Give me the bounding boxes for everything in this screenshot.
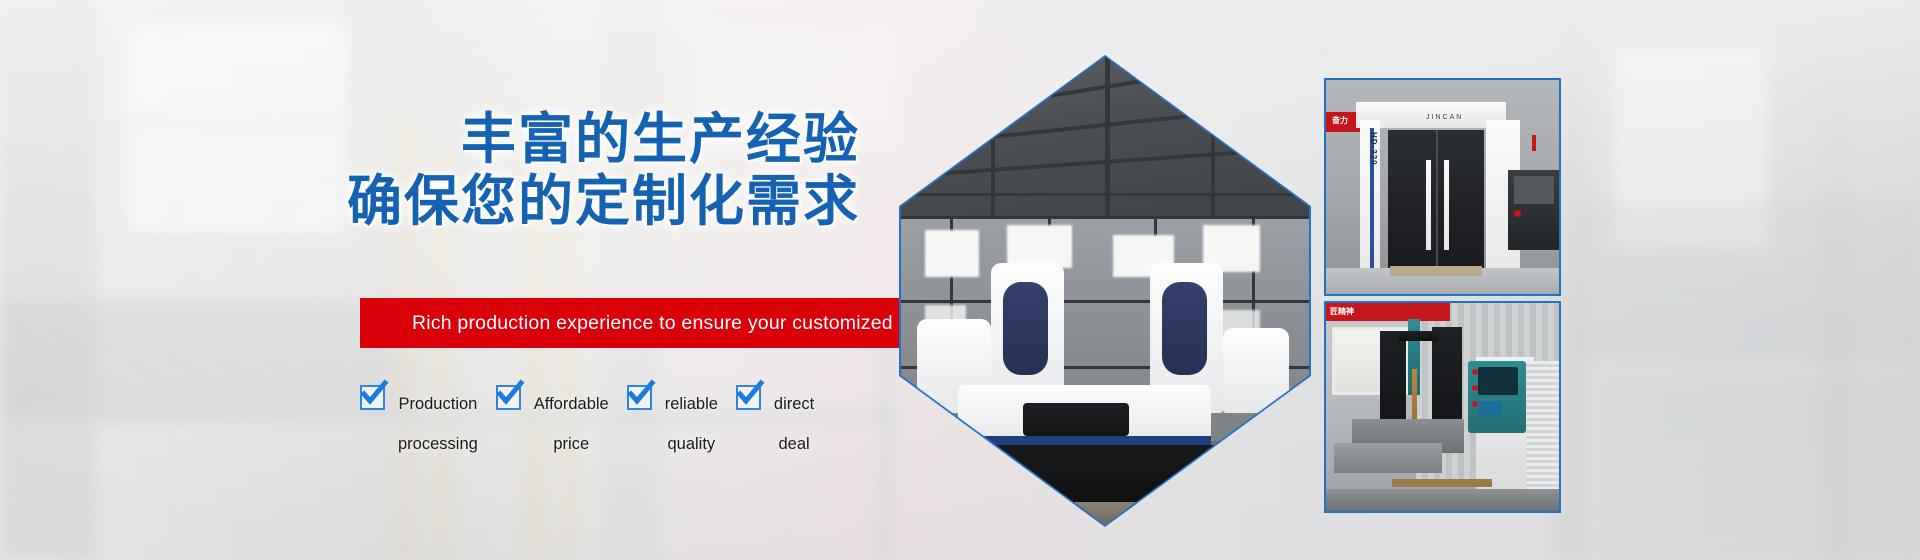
checkbox-checked-icon[interactable] xyxy=(736,385,761,410)
headline-line-2: 确保您的定制化需求 xyxy=(300,170,860,232)
feature-item-reliable-quality[interactable]: reliable quality xyxy=(627,374,718,454)
checkbox-checked-icon[interactable] xyxy=(496,385,521,410)
hero-headline: 丰富的生产经验 确保您的定制化需求 xyxy=(300,108,860,232)
feature-label-line-1: direct xyxy=(774,395,814,413)
feature-item-direct-deal[interactable]: direct deal xyxy=(736,374,814,454)
headline-line-1: 丰富的生产经验 xyxy=(300,108,860,170)
checkbox-checked-icon[interactable] xyxy=(627,385,652,410)
feature-label-line-2: processing xyxy=(398,435,478,453)
feature-label-line-1: Affordable xyxy=(534,395,609,413)
feature-item-affordable-price[interactable]: Affordable price xyxy=(496,374,609,454)
hero-subtitle-bar: Rich production experience to ensure you… xyxy=(360,298,903,348)
feature-label-line-2: quality xyxy=(667,435,715,453)
feature-label-line-2: deal xyxy=(779,435,810,453)
photo-gantry-milling-machine: 匠精神 xyxy=(1324,301,1561,513)
wall-sign-text: 匠精神 xyxy=(1330,306,1354,317)
machine-model-label: HD-320 xyxy=(1369,132,1378,166)
feature-label-line-2: price xyxy=(553,435,589,453)
feature-label: Production processing xyxy=(398,374,478,454)
wall-sign-text: 奋力 xyxy=(1332,115,1348,126)
feature-label: reliable quality xyxy=(665,374,718,454)
hexagon-photo-frame xyxy=(899,55,1311,527)
feature-item-production-processing[interactable]: Production processing xyxy=(360,374,478,454)
hexagon-photo-workshop xyxy=(901,57,1309,525)
feature-label-line-1: reliable xyxy=(665,395,718,413)
feature-label-line-1: Production xyxy=(398,395,477,413)
feature-label: direct deal xyxy=(774,374,814,454)
machine-brand-label: JINCAN xyxy=(1426,114,1463,121)
feature-label: Affordable price xyxy=(534,374,609,454)
hero-subtitle-text: Rich production experience to ensure you… xyxy=(360,312,953,335)
hero-banner: 丰富的生产经验 确保您的定制化需求 Rich production experi… xyxy=(0,0,1920,560)
photo-hd320-machining-center: 奋力 HD-320 JINCAN xyxy=(1324,78,1561,296)
checkbox-checked-icon[interactable] xyxy=(360,385,385,410)
right-photo-column: 奋力 HD-320 JINCAN 匠精神 xyxy=(1324,78,1561,513)
feature-list: Production processing Affordable price xyxy=(360,374,832,454)
